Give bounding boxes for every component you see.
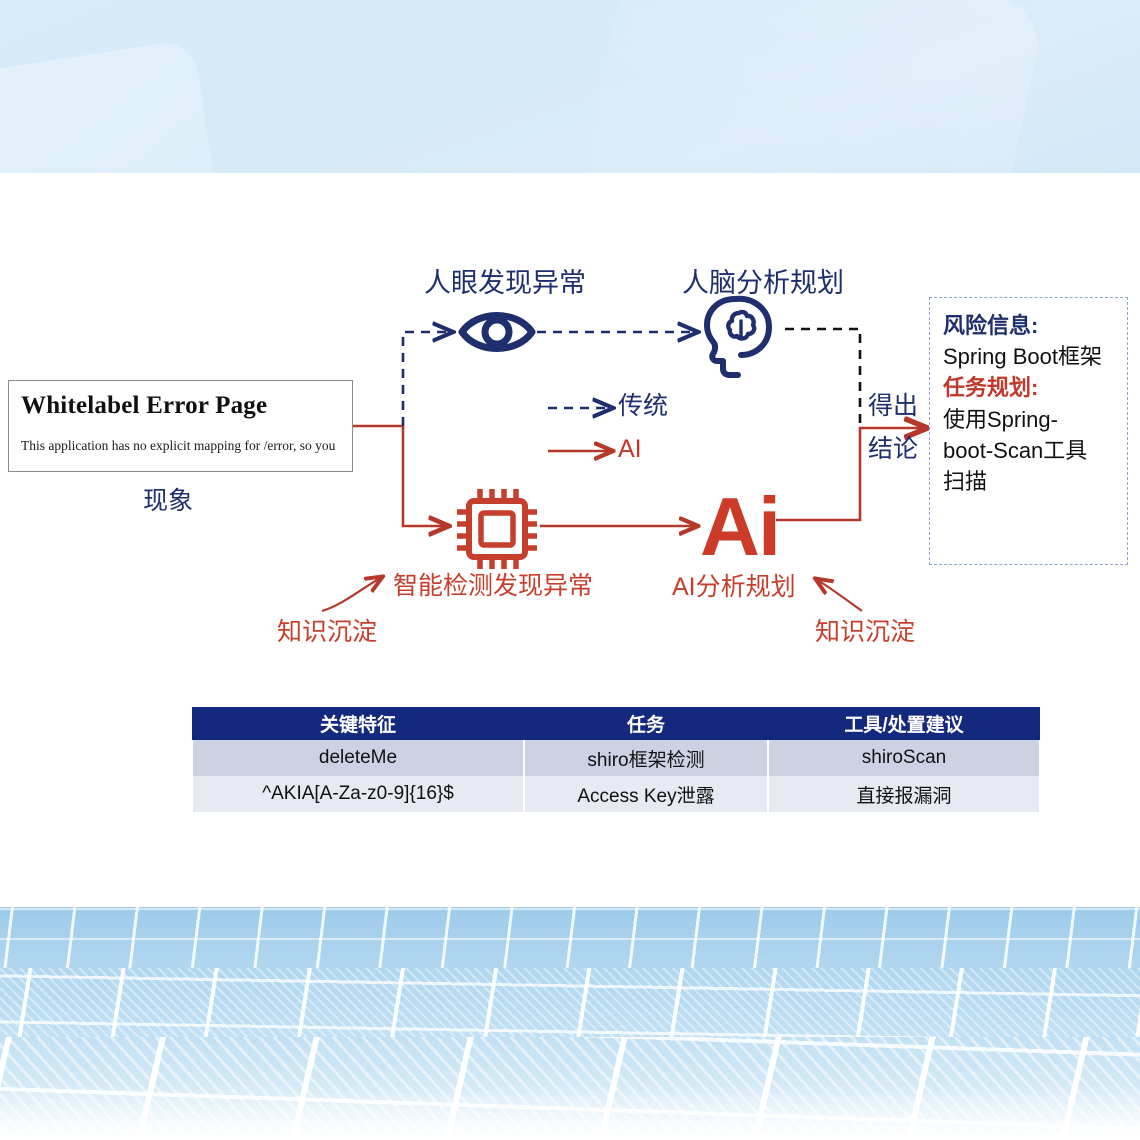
- knowledge-arrow-left: [322, 577, 382, 611]
- task-line-3: 扫描: [943, 466, 1117, 497]
- connector-brain-to-conclusion-dashed: [785, 329, 860, 428]
- label-ai-plan: AI分析规划: [672, 575, 796, 600]
- connector-trunk-red: [353, 426, 448, 526]
- column-header-tool: 工具/处置建议: [768, 707, 1040, 740]
- legend-label-traditional: 传统: [618, 394, 668, 419]
- error-page-title: Whitelabel Error Page: [21, 392, 352, 420]
- table-header-row: 关键特征 任务 工具/处置建议: [192, 707, 1040, 740]
- column-header-task: 任务: [524, 707, 768, 740]
- risk-heading: 风险信息:: [943, 310, 1117, 341]
- cell-feature: deleteMe: [192, 740, 524, 776]
- label-conclusion-bottom: 结论: [868, 437, 918, 462]
- task-heading: 任务规划:: [943, 372, 1117, 403]
- cell-tool: 直接报漏洞: [768, 776, 1040, 812]
- banner-fade: [0, 1085, 1140, 1140]
- label-conclusion-top: 得出: [868, 394, 918, 419]
- risk-and-task-info-box: 风险信息: Spring Boot框架 任务规划: 使用Spring- boot…: [929, 297, 1128, 565]
- table-row: ^AKIA[A-Za-z0-9]{16}$ Access Key泄露 直接报漏洞: [192, 776, 1040, 812]
- column-header-feature: 关键特征: [192, 707, 524, 740]
- label-smart-detect: 智能检测发现异常: [393, 574, 593, 599]
- risk-value: Spring Boot框架: [943, 341, 1117, 372]
- cell-task: shiro框架检测: [524, 740, 768, 776]
- ai-wordmark-icon: Ai: [700, 492, 779, 563]
- label-knowledge-right: 知识沉淀: [815, 620, 915, 645]
- eye-icon: [462, 316, 532, 349]
- bottom-solar-panel-banner: [0, 907, 1140, 1140]
- connector-to-eye-dashed: [403, 332, 452, 426]
- label-knowledge-left: 知识沉淀: [277, 620, 377, 645]
- top-decorative-banner: [0, 0, 1140, 173]
- error-page-subtitle: This application has no explicit mapping…: [21, 438, 352, 454]
- feature-task-tool-table: 关键特征 任务 工具/处置建议 deleteMe shiro框架检测 shiro…: [191, 707, 1041, 812]
- cell-feature: ^AKIA[A-Za-z0-9]{16}$: [192, 776, 524, 812]
- label-human-brain-plan: 人脑分析规划: [682, 270, 844, 297]
- label-phenomenon: 现象: [143, 489, 193, 514]
- banner-shape-rounded-square: [0, 38, 228, 173]
- task-line-2: boot-Scan工具: [943, 435, 1117, 466]
- cpu-chip-icon: [457, 489, 537, 569]
- knowledge-arrow-right: [816, 579, 862, 611]
- label-human-eye-detect: 人眼发现异常: [424, 270, 586, 297]
- table-row: deleteMe shiro框架检测 shiroScan: [192, 740, 1040, 776]
- brain-head-icon: [707, 299, 769, 375]
- error-page-screenshot: Whitelabel Error Page This application h…: [8, 380, 353, 472]
- cell-task: Access Key泄露: [524, 776, 768, 812]
- legend-label-ai: AI: [618, 437, 642, 462]
- banner-shape-highlight: [573, 0, 1046, 173]
- task-line-1: 使用Spring-: [943, 404, 1117, 435]
- cell-tool: shiroScan: [768, 740, 1040, 776]
